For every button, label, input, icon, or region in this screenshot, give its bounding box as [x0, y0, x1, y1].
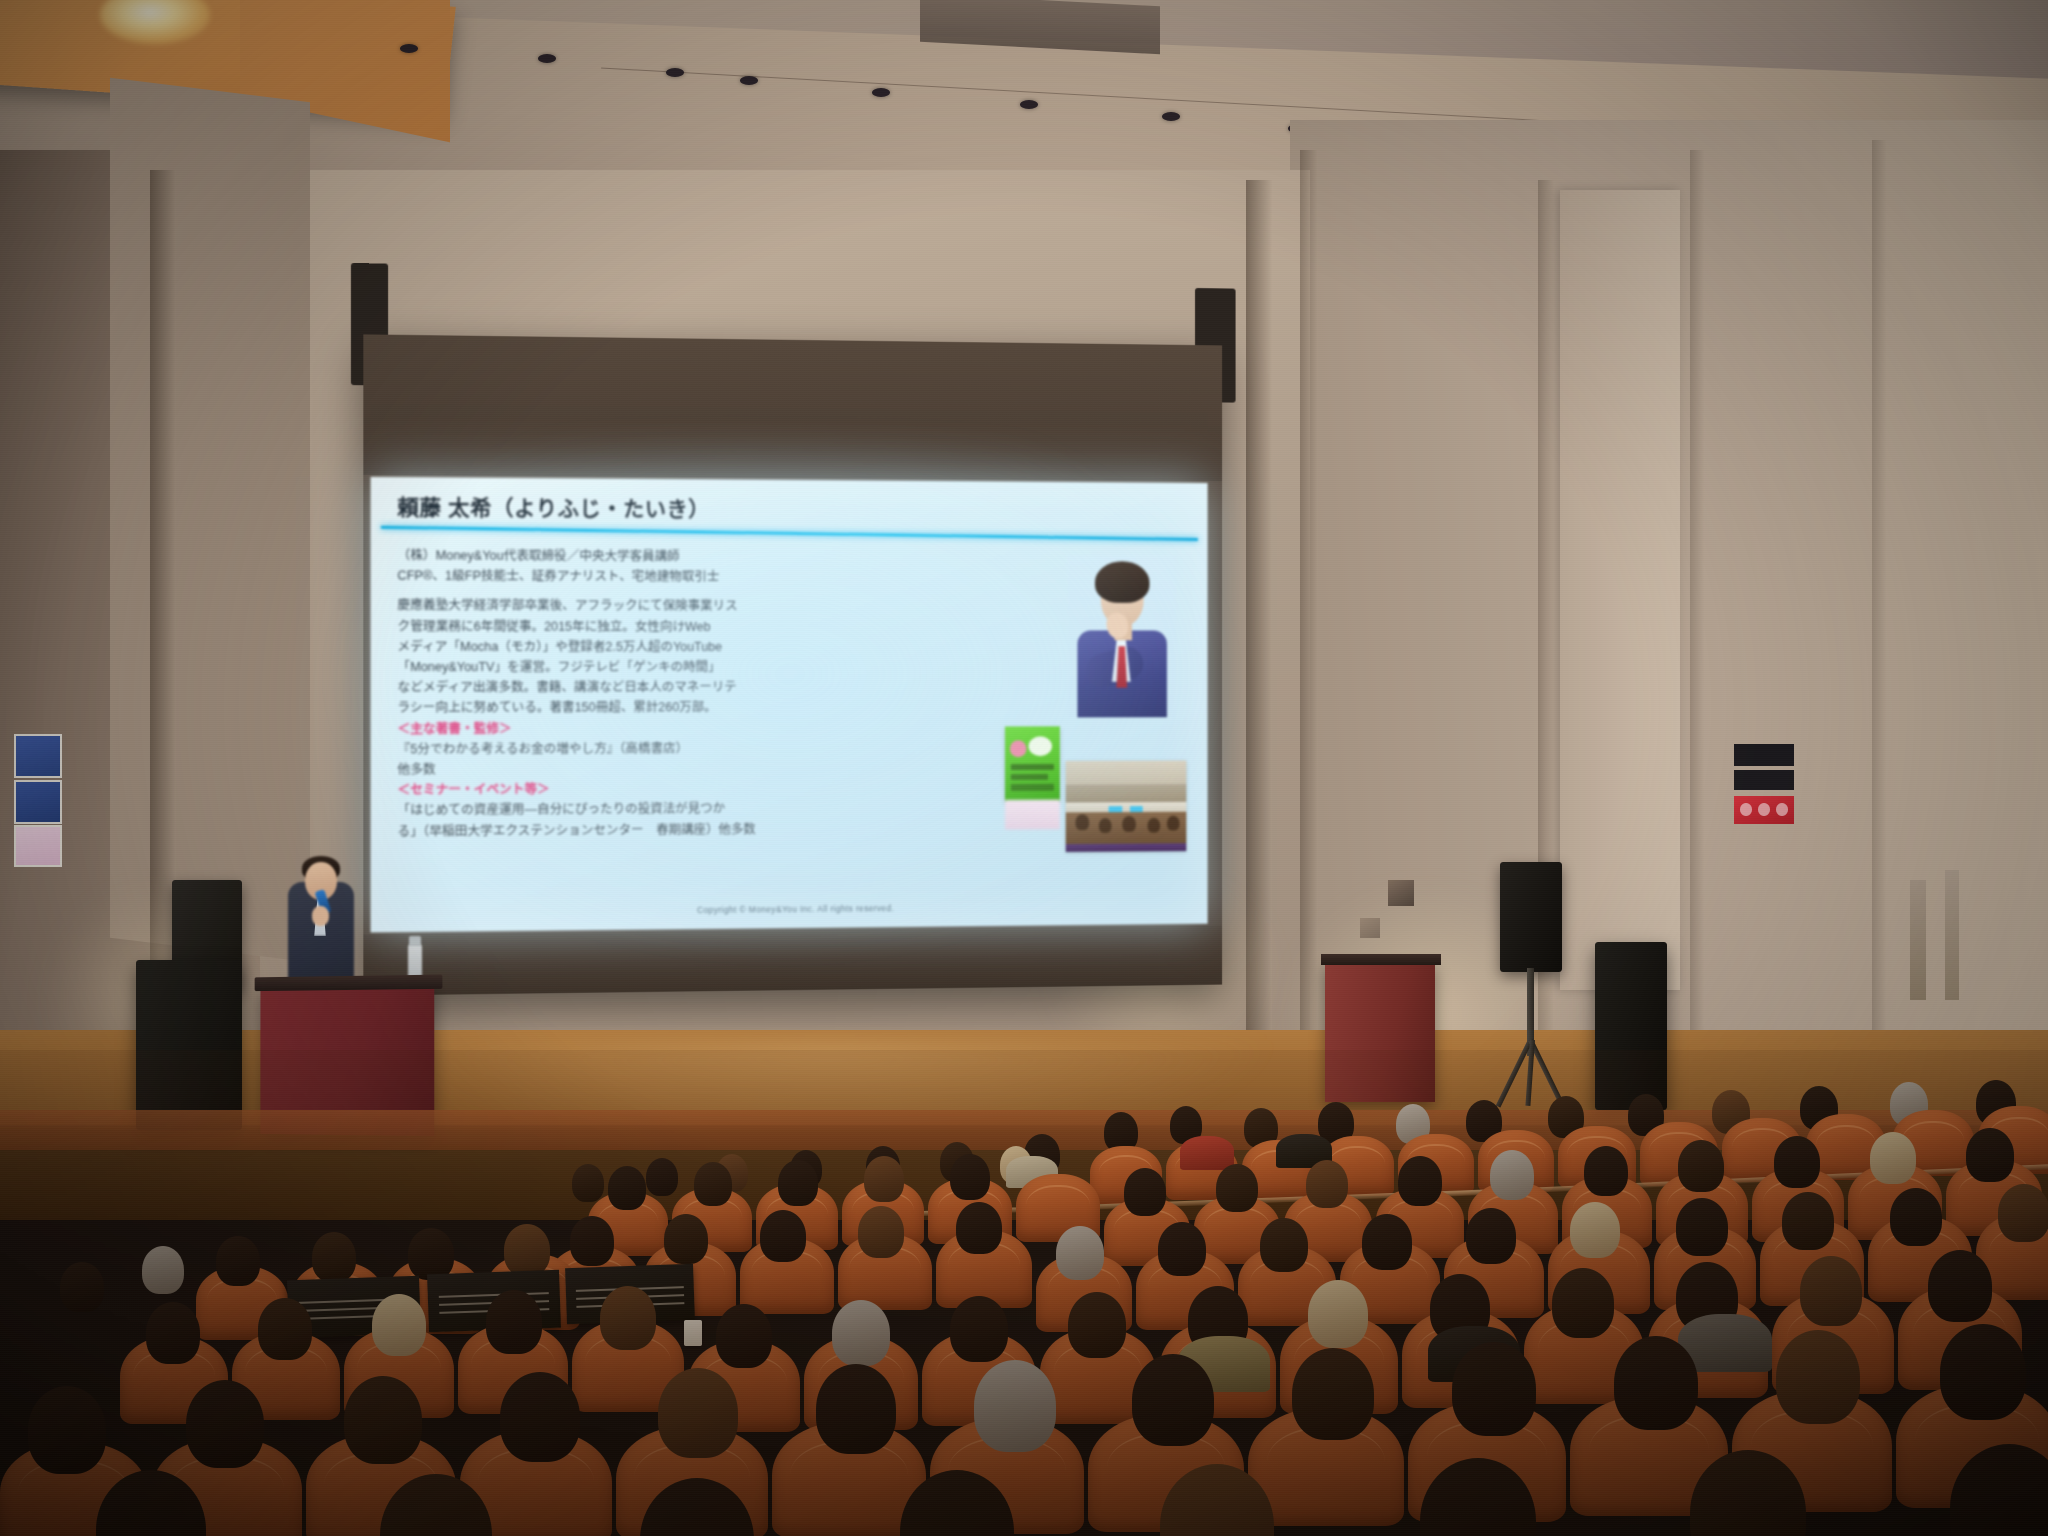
wall-trim-panel	[1910, 880, 1926, 1000]
slide-section-line: 『5分でわかる考えるお金の増やし方』（高橋書店）	[397, 738, 922, 758]
audience-member	[500, 1372, 580, 1462]
audience-member	[956, 1202, 1002, 1254]
wall-right-panel	[1560, 190, 1680, 990]
audience-member	[1890, 1188, 1942, 1246]
audience-member	[408, 1228, 454, 1280]
audience-member	[572, 1164, 604, 1202]
photo-band	[1066, 784, 1187, 802]
slide-bio-line: メディア「Mocha（モカ）」や登録者2.5万人超のYouTube	[397, 637, 922, 656]
audience-member	[1308, 1280, 1368, 1348]
slide-copyright-footer: Copyright © Money&You Inc. All rights re…	[371, 900, 1208, 918]
notice-board-blue-upper	[14, 734, 62, 778]
photo-crowd-head	[1075, 814, 1089, 830]
slide-book-cover-image	[1005, 726, 1060, 802]
book-cover-title-block	[1011, 784, 1054, 791]
audience-member	[1870, 1132, 1916, 1184]
audience-member	[216, 1236, 260, 1286]
slide-headshot-image	[1068, 555, 1175, 717]
audience-member	[486, 1290, 542, 1354]
audience-member	[1552, 1268, 1614, 1338]
audience-member	[1490, 1150, 1534, 1200]
slide-body-text: （株）Money&You代表取締役／中央大学客員講師 CFP®、1級FP技能士、…	[397, 546, 922, 842]
book-cover-dot	[1010, 740, 1027, 757]
audience-member	[1124, 1168, 1166, 1216]
lectern-left-top	[255, 975, 443, 992]
audience-member	[864, 1156, 904, 1202]
photo-foreground	[1066, 843, 1187, 852]
audience-member	[858, 1206, 904, 1258]
book-cover-title-block	[1011, 774, 1048, 780]
audience-member	[372, 1294, 426, 1356]
slide-bio-line: などメディア出演多数。書籍、講演など日本人のマネーリテ	[397, 678, 922, 697]
emergency-exit-sign-red	[1734, 796, 1794, 824]
audience-member	[716, 1304, 772, 1368]
audience-member	[1306, 1160, 1348, 1208]
notice-board-dark-lower	[1734, 770, 1794, 790]
audience-member	[258, 1298, 312, 1360]
audience-member	[1056, 1226, 1104, 1280]
photo-background	[1066, 761, 1187, 787]
slide-title-underline	[381, 526, 1198, 541]
audience-member	[1676, 1198, 1728, 1256]
audience-member	[950, 1296, 1008, 1362]
audience-member	[1570, 1202, 1620, 1258]
screen-masking-bottom	[363, 926, 1222, 996]
downlight-icon	[740, 76, 758, 85]
wall-column	[1872, 140, 1886, 1130]
slide-intro-line: CFP®、1級FP技能士、証券アナリスト、宅地建物取引士	[397, 567, 922, 587]
notice-board-blue-lower	[14, 780, 62, 824]
slide-section-line: 「はじめての資産運用―自分にぴったりの投資法が見つか	[397, 799, 922, 820]
slide-bio-line: 「Money&YouTV」を運営。フジテレビ「ゲンキの時間」	[397, 658, 922, 676]
photo-crowd-head	[1167, 816, 1180, 831]
auditorium-photo: 頼藤 太希（よりふじ・たいき） （株）Money&You代表取締役／中央大学客員…	[0, 0, 2048, 1536]
audience-member-body	[1180, 1136, 1234, 1170]
audience-member	[1678, 1140, 1724, 1192]
audience-member	[142, 1246, 184, 1294]
audience-member	[1068, 1292, 1126, 1358]
audience-member	[694, 1162, 732, 1206]
screen-masking-top	[363, 334, 1222, 481]
audience-member	[1132, 1354, 1214, 1446]
wall-left-face	[110, 78, 310, 963]
slide-bio-line: ク管理業務に6年間従事。2015年に独立。女性向けWeb	[397, 617, 922, 636]
downlight-icon	[1020, 100, 1038, 109]
slide-bio-line: 慶應義塾大学経済学部卒業後、アフラックにて保険事業リス	[397, 596, 922, 616]
audience-member	[504, 1224, 550, 1276]
audience-area	[0, 1050, 2048, 1536]
audience-member	[570, 1216, 614, 1266]
audience-member	[1928, 1250, 1992, 1322]
audience-member	[950, 1154, 990, 1200]
audience-member	[1800, 1256, 1862, 1326]
headshot-hair	[1095, 561, 1149, 603]
slide-section-heading-books: ＜主な著書・監修＞	[397, 718, 922, 738]
audience-member	[1774, 1136, 1820, 1188]
photo-crowd-head	[1099, 818, 1112, 833]
audience-member	[1362, 1214, 1412, 1270]
audience-member	[664, 1214, 708, 1264]
slide-title: 頼藤 太希（よりふじ・たいき）	[397, 491, 709, 523]
book-cover-title-block	[1011, 764, 1054, 770]
book-cover-shelf	[1005, 800, 1060, 830]
slide-intro-line: （株）Money&You代表取締役／中央大学客員講師	[397, 546, 922, 567]
audience-member	[1216, 1164, 1258, 1212]
wall-vent-icon	[1388, 880, 1414, 906]
downlight-icon	[872, 88, 890, 97]
handout-paper	[684, 1320, 702, 1346]
notice-board-group-right	[1728, 740, 1802, 850]
slide-section-line: 他多数	[397, 759, 922, 779]
audience-member	[186, 1380, 264, 1468]
audience-member	[658, 1368, 738, 1458]
audience-member	[1614, 1336, 1698, 1430]
audience-member	[28, 1386, 106, 1474]
downlight-icon	[538, 54, 556, 63]
audience-member	[1398, 1156, 1442, 1206]
audience-member	[1584, 1146, 1628, 1196]
lectern-right-top	[1321, 954, 1441, 965]
audience-member	[760, 1210, 806, 1262]
slide-section-line: る」（早稲田大学エクステンションセンター 春期講座）他多数	[397, 819, 922, 841]
audience-member	[1998, 1184, 2048, 1242]
audience-member	[832, 1300, 890, 1366]
notice-board-pink	[14, 825, 62, 867]
slide-seminar-photo	[1066, 761, 1187, 852]
photo-crowd-head	[1148, 818, 1161, 833]
downlight-icon	[666, 68, 684, 77]
downlight-icon	[400, 44, 418, 53]
audience-member	[646, 1158, 678, 1196]
audience-member	[1966, 1128, 2014, 1182]
audience-member	[60, 1262, 104, 1312]
audience-member	[1776, 1330, 1860, 1424]
audience-member	[312, 1232, 356, 1282]
audience-member	[1466, 1208, 1516, 1264]
downlight-icon	[1162, 112, 1180, 121]
audience-member	[1782, 1192, 1834, 1250]
audience-member	[344, 1376, 422, 1464]
wall-column	[1690, 150, 1704, 1130]
notice-board-dark-upper	[1734, 744, 1794, 766]
audience-member	[1452, 1342, 1536, 1436]
audience-member	[974, 1360, 1056, 1452]
wall-vent-icon	[1360, 918, 1380, 938]
audience-member	[146, 1302, 200, 1364]
projected-slide: 頼藤 太希（よりふじ・たいき） （株）Money&You代表取締役／中央大学客員…	[371, 477, 1208, 933]
water-bottle-cap	[409, 936, 421, 946]
photo-crowd-head	[1122, 816, 1136, 832]
slide-section-heading-seminars: ＜セミナー・イベント等＞	[397, 779, 922, 800]
audience-member	[1940, 1324, 2026, 1420]
wall-trim-panel	[1945, 870, 1959, 1000]
audience-member	[778, 1160, 818, 1206]
audience-member	[1292, 1348, 1374, 1440]
pa-speaker-right-tripod	[1500, 862, 1562, 972]
audience-member	[608, 1166, 646, 1210]
presenter-hand	[312, 906, 329, 926]
notice-board-group-left	[8, 730, 64, 870]
audience-member	[1158, 1222, 1206, 1276]
audience-member	[816, 1364, 896, 1454]
book-cover-dot	[1029, 736, 1053, 756]
slide-bio-line: ラシー向上に努めている。著書150冊超、累計260万部。	[397, 698, 922, 717]
audience-member	[600, 1286, 656, 1350]
audience-member	[1260, 1218, 1308, 1272]
projection-screen: 頼藤 太希（よりふじ・たいき） （株）Money&You代表取締役／中央大学客員…	[363, 334, 1222, 995]
